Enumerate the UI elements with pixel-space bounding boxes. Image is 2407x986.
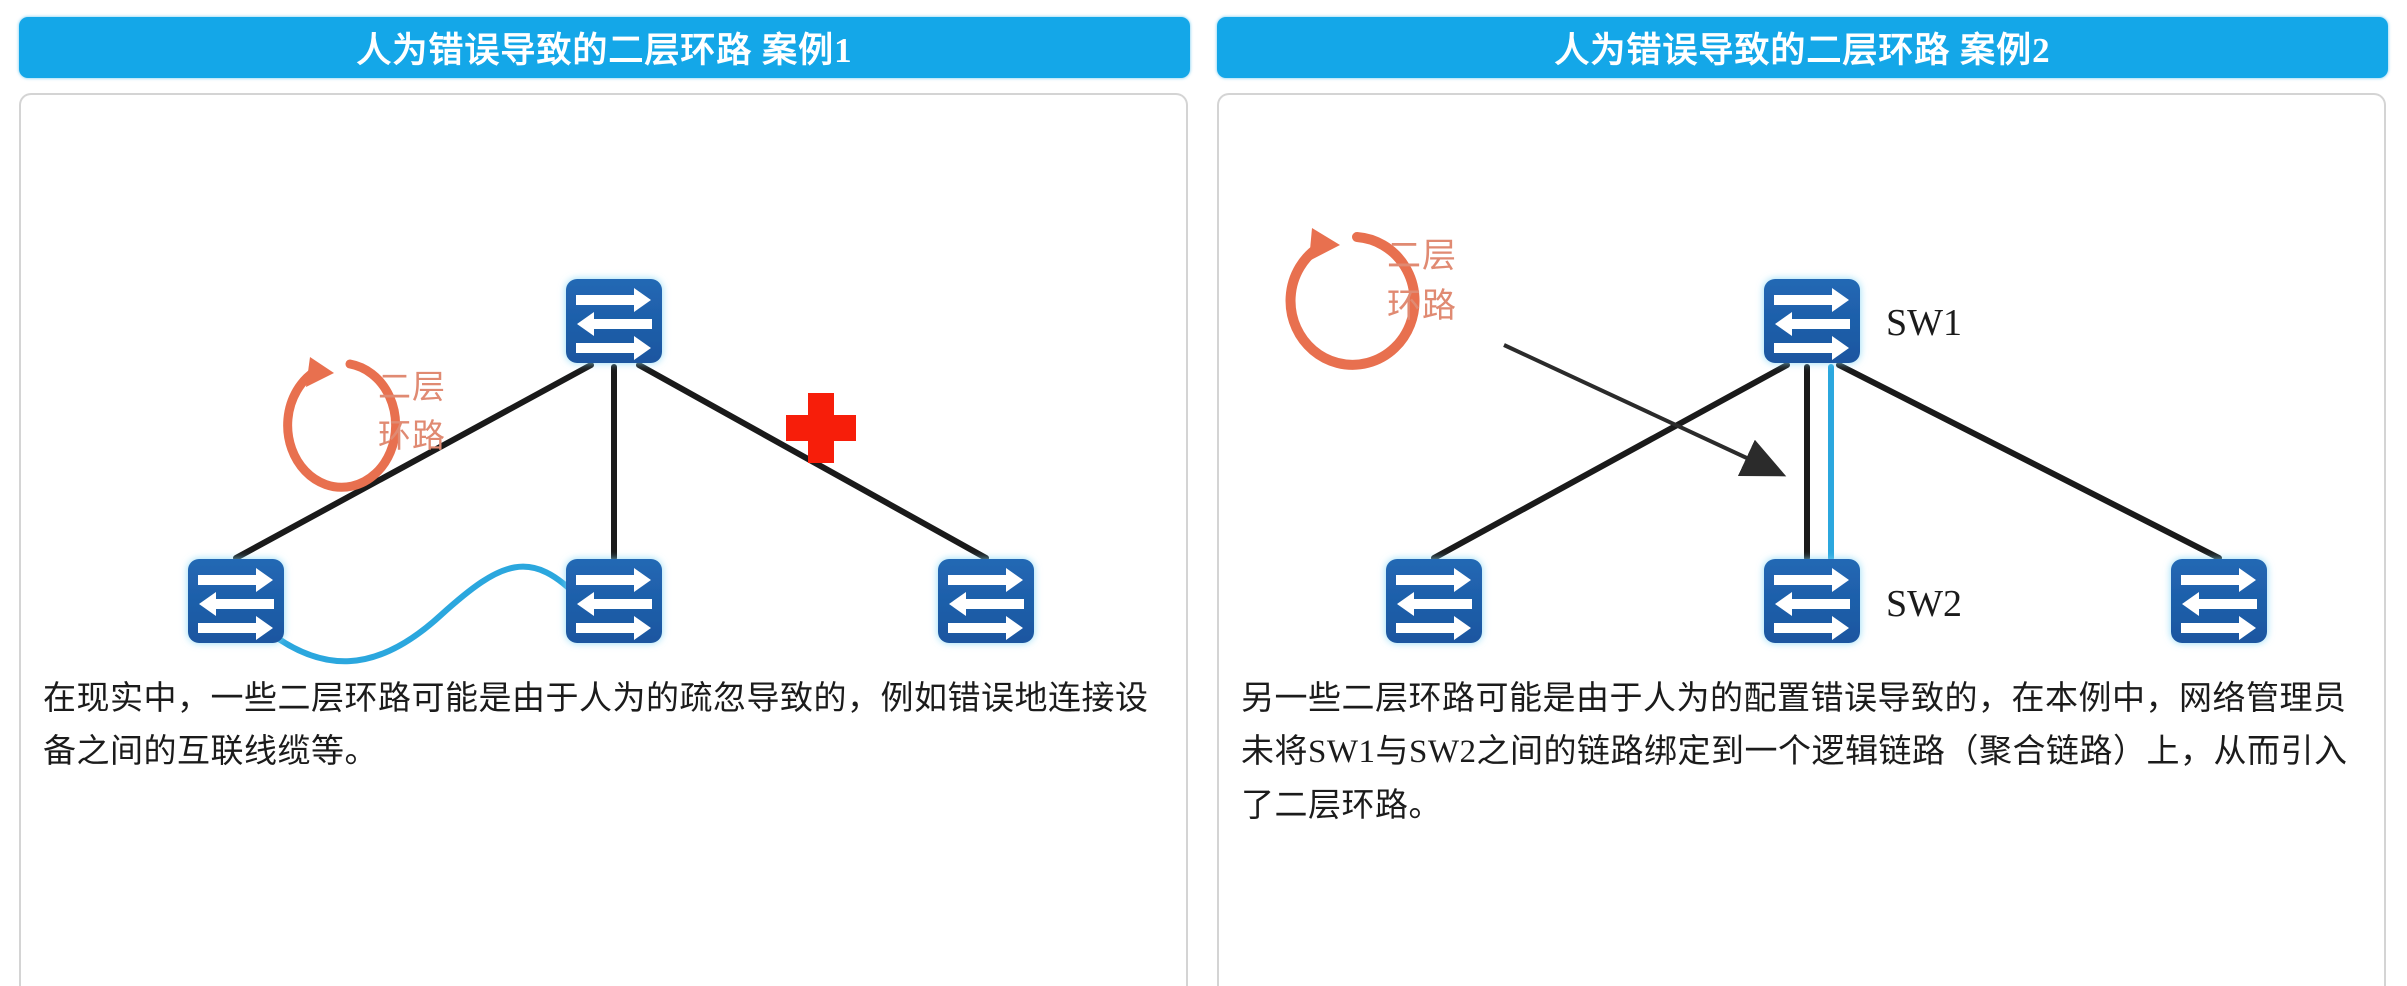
node-bottom-left-switch	[188, 559, 284, 643]
node-label-sw1: SW1	[1886, 302, 1962, 344]
case-2-body: 二层 环路 SW1 SW2 另一些二层环路可能是由于人	[1217, 93, 2386, 986]
case-2-diagram: 二层 环路 SW1 SW2	[1219, 95, 2384, 675]
case-2-links	[1434, 365, 2219, 558]
slide-root: 人为错误导致的二层环路 案例1	[0, 0, 2407, 986]
case-1-links	[236, 365, 986, 558]
loop-pointer-arrow	[1504, 345, 1779, 473]
loop-label-line-2: 环路	[1387, 287, 1457, 325]
link-sw1-to-bottom-right	[1839, 365, 2219, 558]
loop-label-line-1: 二层	[378, 370, 446, 406]
node-bottom-right-switch	[938, 559, 1034, 643]
case-2-caption-text: 另一些二层环路可能是由于人为的配置错误导致的，在本例中，网络管理员未将SW1与S…	[1241, 673, 2362, 833]
loop-arrowhead-icon	[306, 357, 334, 387]
case-1-caption: 在现实中，一些二层环路可能是由于人为的疏忽导致的，例如错误地连接设备之间的互联线…	[43, 673, 1164, 780]
case-2-nodes	[1386, 279, 2267, 643]
case-1-header: 人为错误导致的二层环路 案例1	[19, 17, 1190, 78]
node-bottom-mid-switch	[566, 559, 662, 643]
loop-label-line-2: 环路	[378, 418, 446, 455]
case-2-title: 人为错误导致的二层环路 案例2	[1554, 22, 2050, 73]
node-bottom-left-switch	[1386, 559, 1482, 643]
layer2-loop-annotation: 二层 环路	[288, 357, 446, 487]
case-1-title: 人为错误导致的二层环路 案例1	[356, 22, 852, 73]
case-2-caption: 另一些二层环路可能是由于人为的配置错误导致的，在本例中，网络管理员未将SW1与S…	[1241, 673, 2362, 833]
loop-arrowhead-icon	[1309, 228, 1340, 261]
node-top-switch	[566, 279, 662, 363]
node-bottom-right-switch	[2171, 559, 2267, 643]
case-1-body: 二层 环路 在现实中，一	[19, 93, 1188, 986]
layer2-loop-annotation: 二层 环路	[1291, 228, 1457, 365]
node-sw2	[1764, 559, 1860, 643]
node-label-sw2: SW2	[1886, 583, 1962, 625]
case-1-caption-text: 在现实中，一些二层环路可能是由于人为的疏忽导致的，例如错误地连接设备之间的互联线…	[43, 673, 1164, 780]
loop-label-line-1: 二层	[1387, 238, 1457, 275]
case-1-diagram: 二层 环路	[21, 95, 1186, 675]
miswired-cable	[249, 567, 581, 662]
case-2-header: 人为错误导致的二层环路 案例2	[1217, 17, 2388, 78]
node-sw1	[1764, 279, 1860, 363]
case-2-panel: 人为错误导致的二层环路 案例2	[1217, 0, 2388, 986]
case-1-panel: 人为错误导致的二层环路 案例1	[19, 0, 1190, 986]
